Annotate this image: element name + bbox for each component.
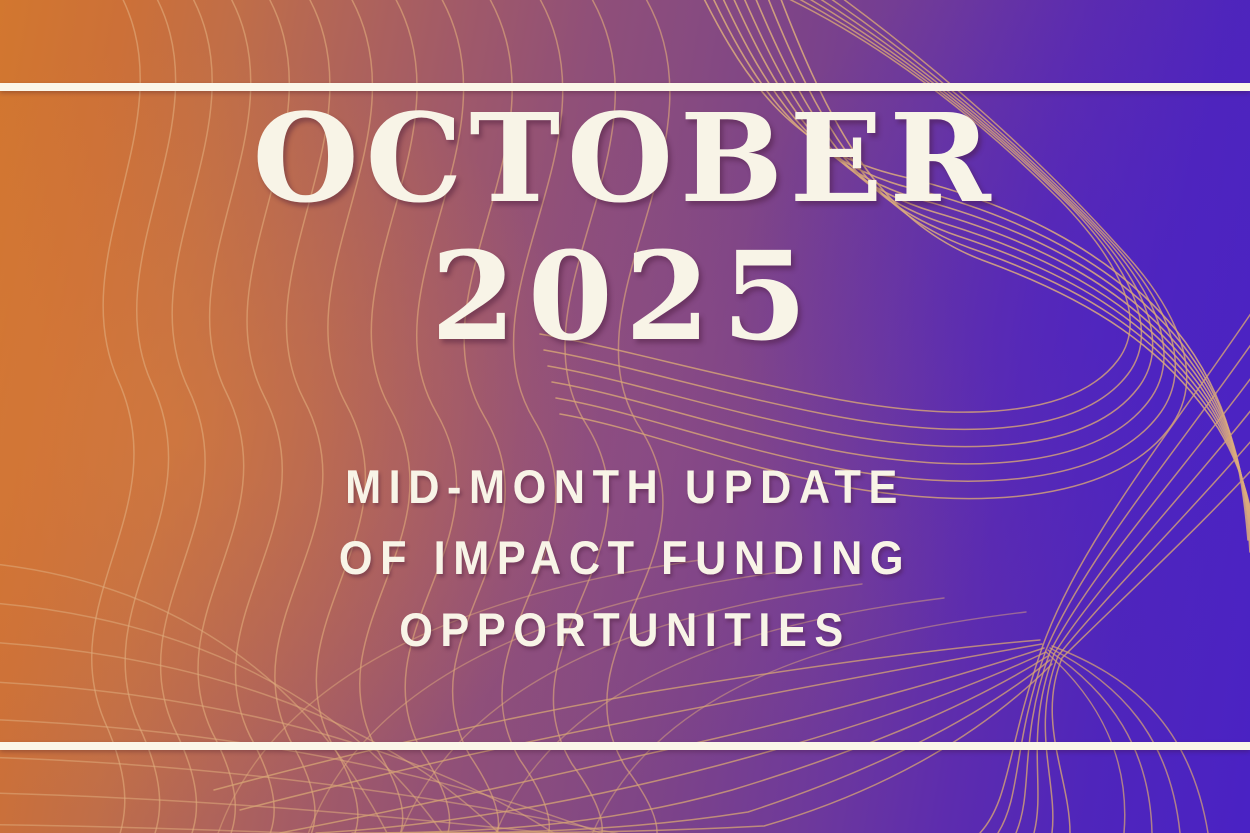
banner-content: OCTOBER 2025 MID-MONTH UPDATE OF IMPACT …	[0, 0, 1250, 833]
subtitle-line-1: MID-MONTH UPDATE	[50, 451, 1200, 522]
subtitle-line-3: OPPORTUNITIES	[50, 594, 1200, 665]
title-month: OCTOBER	[0, 96, 1250, 220]
banner-canvas: OCTOBER 2025 MID-MONTH UPDATE OF IMPACT …	[0, 0, 1250, 833]
subtitle-group: MID-MONTH UPDATE OF IMPACT FUNDING OPPOR…	[0, 451, 1250, 665]
subtitle-line-2: OF IMPACT FUNDING	[50, 522, 1200, 593]
title-group: OCTOBER 2025	[0, 96, 1250, 359]
title-year: 2025	[0, 234, 1250, 358]
